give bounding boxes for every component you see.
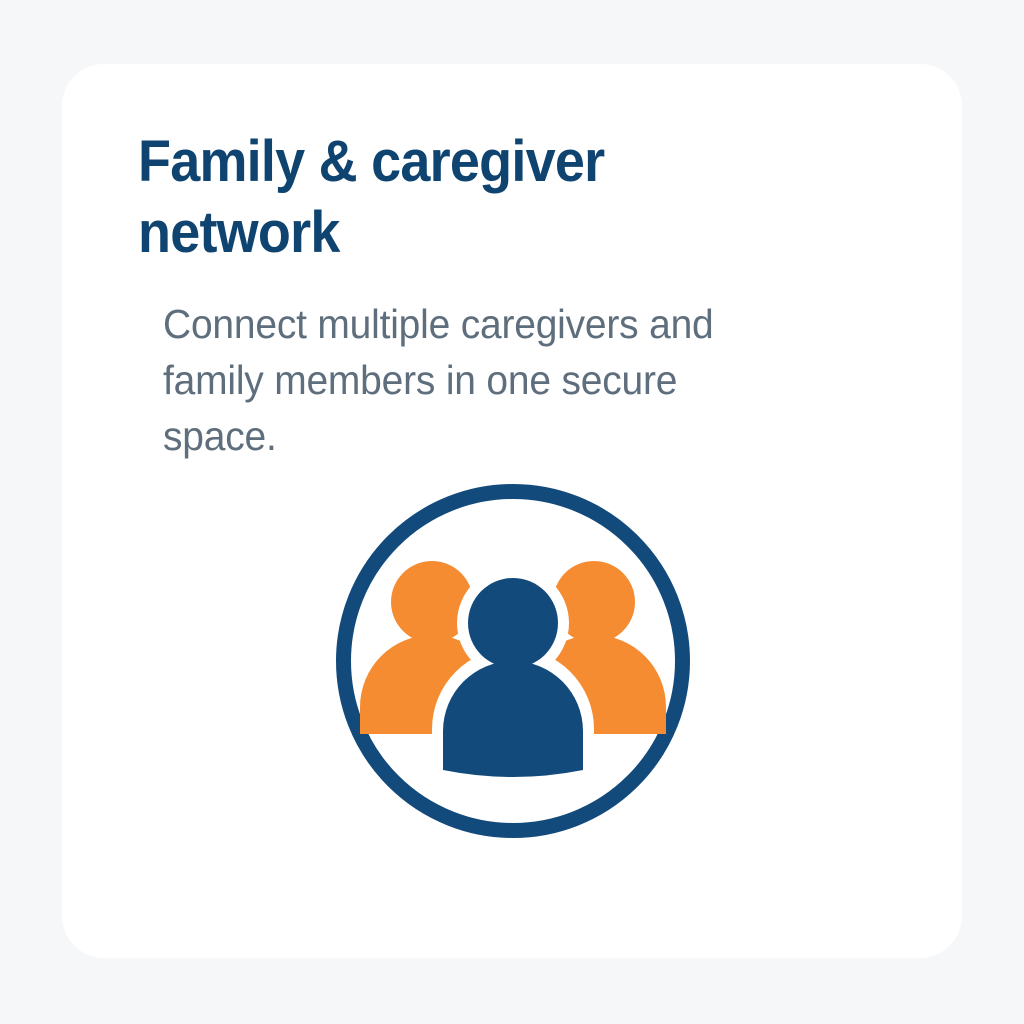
page-canvas: Family & caregiver network Connect multi… [0, 0, 1024, 1024]
people-group-circle-icon [336, 484, 690, 838]
feature-card: Family & caregiver network Connect multi… [62, 64, 962, 958]
card-description: Connect multiple caregivers and family m… [163, 297, 771, 464]
card-title: Family & caregiver network [138, 126, 733, 269]
